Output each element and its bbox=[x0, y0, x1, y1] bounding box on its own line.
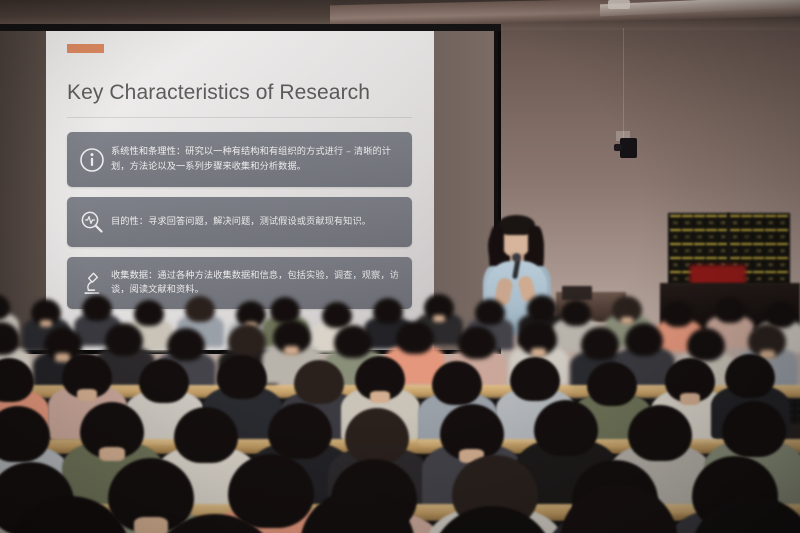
ceiling-light bbox=[608, 0, 630, 9]
audience-member-head bbox=[475, 299, 505, 325]
audience-member-head bbox=[587, 362, 637, 406]
audience-member-neck bbox=[680, 393, 700, 404]
slide-card-text: 收集数据：通过各种方法收集数据和信息，包括实验，调查，观察，访谈，阅读文献和资料… bbox=[111, 269, 402, 298]
shelf-cell: 22 bbox=[682, 243, 693, 256]
shelf-cell: 31 bbox=[670, 257, 681, 270]
shelf-cell: 02 bbox=[682, 215, 693, 228]
shelf-cell: 14 bbox=[706, 229, 717, 242]
audience-member-head bbox=[725, 354, 775, 398]
shelf-cell: 29 bbox=[765, 243, 776, 256]
shelf-cell: 09 bbox=[765, 215, 776, 228]
audience-member-neck bbox=[531, 348, 546, 357]
audience-member-head bbox=[581, 327, 619, 360]
audience-area bbox=[0, 300, 800, 533]
audience-member-neck bbox=[77, 389, 97, 400]
shelf-cell: 40 bbox=[777, 257, 788, 270]
shelf-cell: 27 bbox=[741, 243, 752, 256]
audience-member-neck bbox=[284, 346, 299, 355]
shelf-cell: 04 bbox=[706, 215, 717, 228]
audience-member-neck bbox=[433, 315, 445, 322]
shelf-cell: 16 bbox=[729, 229, 740, 242]
audience-member-head bbox=[345, 408, 409, 464]
audience-member-head bbox=[722, 401, 786, 457]
audience-member-head bbox=[270, 297, 300, 323]
slide-title: Key Characteristics of Research bbox=[67, 81, 370, 105]
shelf-cell: 21 bbox=[670, 243, 681, 256]
audience-member-head bbox=[268, 403, 332, 459]
audience-member-head bbox=[167, 328, 205, 361]
shelf-cell: 28 bbox=[753, 243, 764, 256]
audience-member-head bbox=[105, 323, 143, 356]
audience-member-head bbox=[185, 296, 215, 322]
shelf-cell: 17 bbox=[741, 229, 752, 242]
shelf-cell: 12 bbox=[682, 229, 693, 242]
shelf-cell: 20 bbox=[777, 229, 788, 242]
slide-accent-bar bbox=[67, 44, 104, 53]
audience-member-head bbox=[715, 297, 745, 323]
shelf-cell: 26 bbox=[729, 243, 740, 256]
shelf-cell: 03 bbox=[694, 215, 705, 228]
audience-member-head bbox=[561, 300, 591, 326]
audience-member-neck bbox=[370, 391, 390, 402]
slide-card-text: 系统性和条理性：研究以一种有结构和有组织的方式进行 – 清晰的计划，方法论以及一… bbox=[111, 145, 402, 174]
audience-member-head bbox=[687, 328, 725, 361]
audience-member-head bbox=[534, 400, 598, 456]
shelf-cell: 39 bbox=[765, 257, 776, 270]
shelf-cell: 38 bbox=[753, 257, 764, 270]
shelf-cell: 08 bbox=[753, 215, 764, 228]
audience-member-head bbox=[510, 357, 560, 401]
shelf-banner bbox=[690, 265, 746, 285]
wall-camera-icon bbox=[620, 138, 637, 158]
audience-member-head bbox=[82, 295, 112, 321]
shelf-cell: 24 bbox=[706, 243, 717, 256]
audience-member-head bbox=[174, 407, 238, 463]
audience-member-head bbox=[139, 359, 189, 403]
shelf-cell: 18 bbox=[753, 229, 764, 242]
audience-member-head bbox=[373, 298, 403, 324]
audience-member-head bbox=[458, 326, 496, 359]
shelf-cell: 07 bbox=[741, 215, 752, 228]
lecture-hall-photo: 0102030405060708091011121314151617181920… bbox=[0, 0, 800, 533]
shelf-cell: 06 bbox=[729, 215, 740, 228]
audience-member-neck bbox=[99, 447, 125, 462]
audience-member-head bbox=[228, 324, 266, 357]
audience-member-neck bbox=[621, 317, 633, 324]
slide-card-systematic: 系统性和条理性：研究以一种有结构和有组织的方式进行 – 清晰的计划，方法论以及一… bbox=[67, 132, 412, 187]
info-circle-icon bbox=[73, 141, 111, 179]
audience-member-neck bbox=[40, 320, 52, 327]
audience-member-head bbox=[625, 323, 663, 356]
audience-member-head bbox=[322, 302, 352, 328]
shelf-cell: 11 bbox=[670, 229, 681, 242]
shelf-cell: 13 bbox=[694, 229, 705, 242]
audience-member-head bbox=[527, 295, 557, 321]
audience-member-head bbox=[334, 325, 372, 358]
shelf-cell: 01 bbox=[670, 215, 681, 228]
audience-member-head bbox=[294, 360, 344, 404]
audience-member-head bbox=[134, 300, 164, 326]
audience-member-neck bbox=[134, 517, 168, 533]
shelf-cell: 23 bbox=[694, 243, 705, 256]
audience-member-head bbox=[628, 405, 692, 461]
slide-title-divider bbox=[67, 117, 412, 118]
audience-member-head bbox=[228, 454, 314, 528]
audience-member-head bbox=[432, 361, 482, 405]
magnifier-pulse-icon bbox=[73, 203, 111, 241]
shelf-cell: 10 bbox=[777, 215, 788, 228]
shelf-cell: 19 bbox=[765, 229, 776, 242]
audience-member-head bbox=[396, 321, 434, 354]
shelf-cell: 30 bbox=[777, 243, 788, 256]
audience-member-head bbox=[217, 355, 267, 399]
slide-card-purposeful: 目的性：寻求回答问题，解决问题，测试假设或贡献现有知识。 bbox=[67, 197, 412, 247]
audience-member-head bbox=[663, 301, 693, 327]
screen-roller-bar bbox=[0, 24, 501, 31]
side-desk-object bbox=[562, 286, 592, 300]
microphone-head bbox=[512, 253, 521, 262]
slide-card-text: 目的性：寻求回答问题，解决问题，测试假设或贡献现有知识。 bbox=[111, 215, 371, 229]
